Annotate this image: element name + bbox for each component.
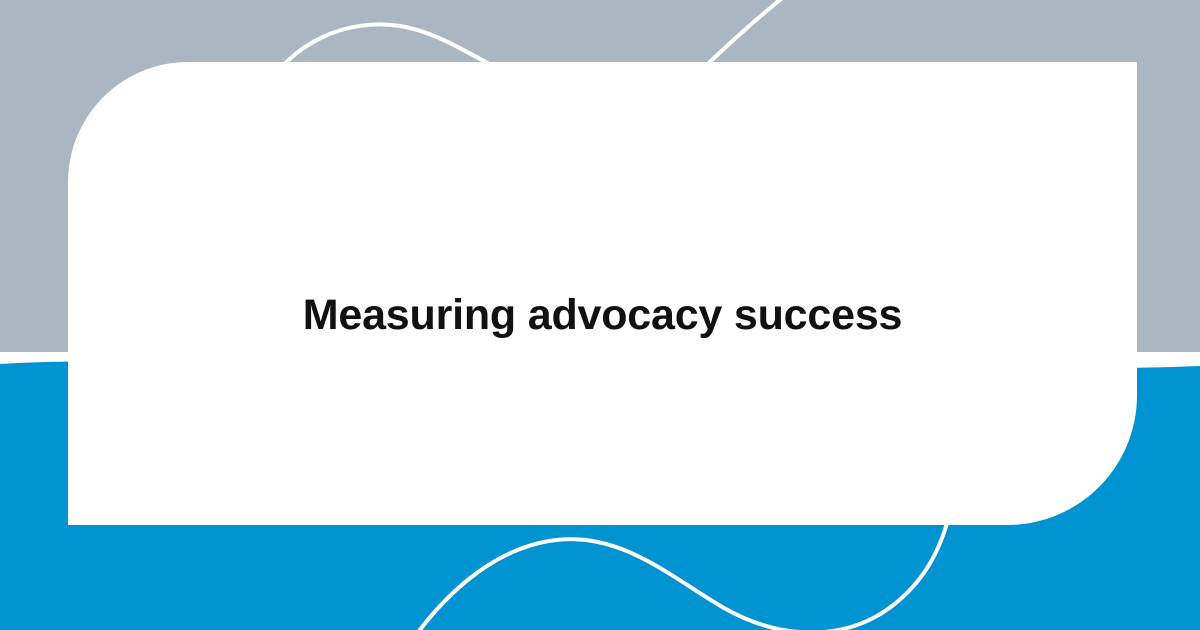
social-card-canvas: Measuring advocacy success — [0, 0, 1200, 630]
page-title: Measuring advocacy success — [68, 287, 1137, 343]
